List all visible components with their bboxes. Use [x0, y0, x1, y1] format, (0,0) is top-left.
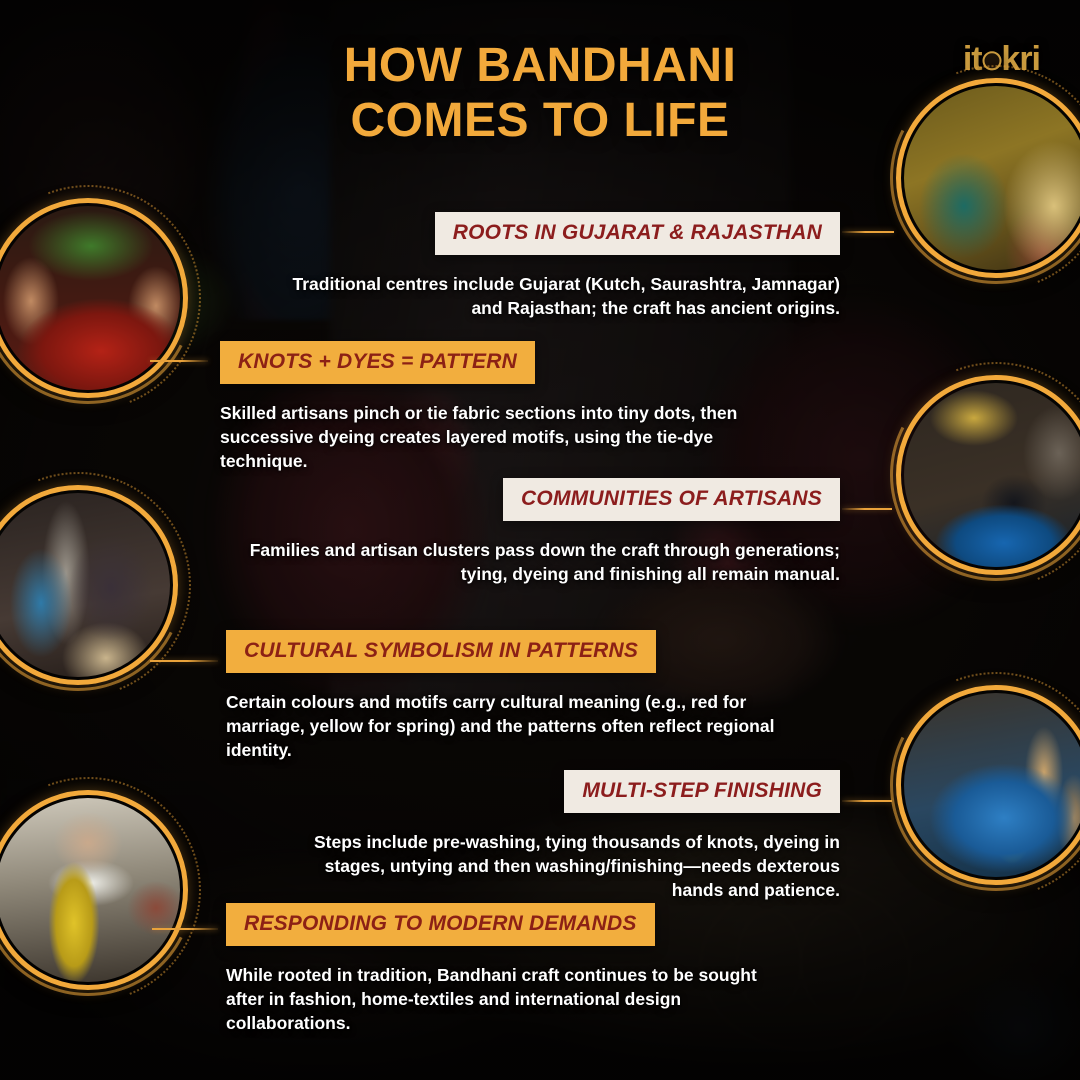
connector-line-roots [842, 231, 894, 233]
photo-brush-ring-dotted [0, 436, 227, 734]
section-heading-symbolism[interactable]: CULTURAL SYMBOLISM IN PATTERNS [226, 630, 656, 673]
photo-brush-ring-dotted [847, 636, 1080, 934]
photo-women-tying-fabric [896, 78, 1080, 278]
section-symbolism: CULTURAL SYMBOLISM IN PATTERNS Certain c… [226, 630, 786, 762]
section-modern: RESPONDING TO MODERN DEMANDS While roote… [226, 903, 796, 1035]
connector-line-knots [150, 360, 208, 362]
photo-hands-tying-red-fabric [0, 198, 188, 398]
section-knots: KNOTS + DYES = PATTERN Skilled artisans … [220, 341, 790, 473]
section-body-modern: While rooted in tradition, Bandhani craf… [226, 963, 796, 1035]
section-heading-modern[interactable]: RESPONDING TO MODERN DEMANDS [226, 903, 655, 946]
section-heading-roots[interactable]: ROOTS IN GUJARAT & RAJASTHAN [435, 212, 840, 255]
section-body-communities: Families and artisan clusters pass down … [248, 538, 840, 586]
section-heading-finishing[interactable]: MULTI-STEP FINISHING [564, 770, 840, 813]
connector-line-communities [842, 508, 892, 510]
section-heading-communities[interactable]: COMMUNITIES OF ARTISANS [503, 478, 840, 521]
section-finishing: MULTI-STEP FINISHING Steps include pre-w… [300, 770, 840, 902]
photo-indigo-dye-vat [896, 685, 1080, 885]
photo-dyer-at-blue-tub [896, 375, 1080, 575]
section-communities: COMMUNITIES OF ARTISANS Families and art… [248, 478, 840, 586]
section-roots: ROOTS IN GUJARAT & RAJASTHAN Traditional… [260, 212, 840, 320]
photo-brush-ring-dotted [0, 149, 237, 447]
connector-line-finishing [842, 800, 892, 802]
photo-woman-tying-knots [0, 485, 178, 685]
section-body-finishing: Steps include pre-washing, tying thousan… [300, 830, 840, 902]
section-body-roots: Traditional centres include Gujarat (Kut… [260, 272, 840, 320]
connector-line-modern [152, 928, 218, 930]
photo-brush-ring-dotted [847, 326, 1080, 624]
section-heading-knots[interactable]: KNOTS + DYES = PATTERN [220, 341, 535, 384]
photo-man-lifting-yellow-fabric [0, 790, 188, 990]
section-body-knots: Skilled artisans pinch or tie fabric sec… [220, 401, 790, 473]
connector-line-symbolism [150, 660, 218, 662]
section-body-symbolism: Certain colours and motifs carry cultura… [226, 690, 786, 762]
photo-brush-ring-dotted [0, 741, 237, 1039]
